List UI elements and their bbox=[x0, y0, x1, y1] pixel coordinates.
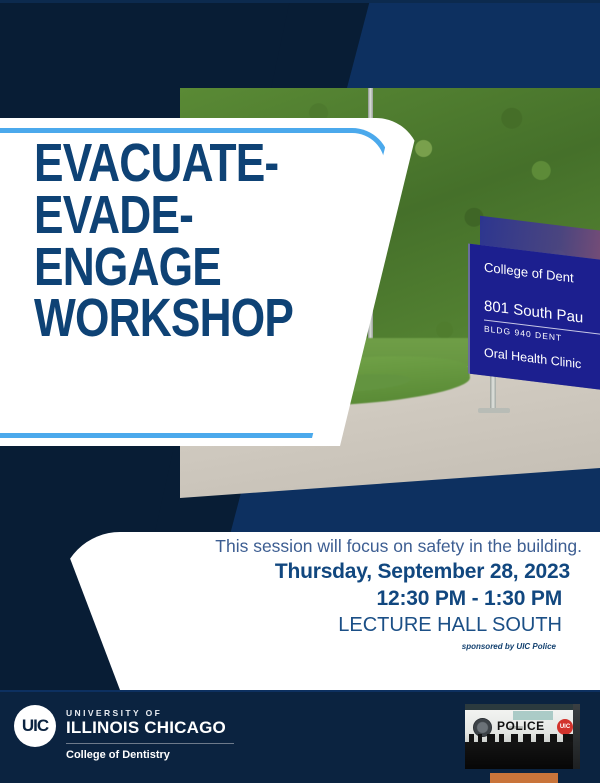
footer-top-divider bbox=[0, 690, 600, 692]
event-time: 12:30 PM - 1:30 PM bbox=[0, 585, 584, 612]
title-line-4: WORKSHOP bbox=[34, 293, 280, 345]
top-hairline bbox=[0, 0, 600, 3]
police-uic-roundel-text: UIC bbox=[560, 724, 570, 730]
page-title: EVACUATE- EVADE- ENGAGE WORKSHOP bbox=[34, 138, 280, 345]
uic-logo: UIC UNIVERSITY OF ILLINOIS CHICAGO Colle… bbox=[14, 705, 234, 762]
event-sponsor: sponsored by UIC Police bbox=[0, 638, 584, 652]
police-decal-text: POLICE bbox=[497, 719, 545, 733]
wordmark-divider bbox=[66, 743, 234, 744]
sign-line-college: College of Dent bbox=[484, 259, 574, 285]
police-vehicle-rear-edge bbox=[573, 704, 580, 769]
session-description: This session will focus on safety in the… bbox=[0, 536, 584, 558]
illinois-chicago-label: ILLINOIS CHICAGO bbox=[66, 718, 234, 738]
event-date: Thursday, September 28, 2023 bbox=[0, 558, 584, 585]
uic-police-vehicle-photo: POLICE UIC bbox=[465, 704, 580, 769]
police-uic-roundel-icon: UIC bbox=[557, 719, 573, 735]
university-of-label: UNIVERSITY OF bbox=[66, 708, 234, 718]
title-line-2: EVADE- bbox=[34, 190, 280, 242]
uic-wordmark: UNIVERSITY OF ILLINOIS CHICAGO College o… bbox=[66, 705, 234, 762]
college-of-dentistry-label: College of Dentistry bbox=[66, 749, 234, 762]
police-vehicle-lower-body bbox=[465, 742, 580, 769]
title-line-1: EVACUATE- bbox=[34, 138, 280, 190]
sign-line-clinic: Oral Health Clinic bbox=[484, 345, 581, 371]
uic-monogram-text: UIC bbox=[22, 716, 48, 736]
sign-post-base bbox=[478, 408, 510, 413]
sign-line-building: BLDG 940 DENT bbox=[484, 323, 562, 343]
event-location: LECTURE HALL SOUTH bbox=[0, 612, 584, 638]
event-details: This session will focus on safety in the… bbox=[0, 536, 600, 653]
bottom-orange-accent-bar bbox=[490, 773, 558, 783]
uic-circle-monogram-icon: UIC bbox=[14, 705, 56, 747]
campus-directional-sign: College of Dent 801 South Pau BLDG 940 D… bbox=[470, 244, 600, 399]
title-line-3: ENGAGE bbox=[34, 242, 280, 294]
poster-canvas: College of Dent 801 South Pau BLDG 940 D… bbox=[0, 0, 600, 783]
